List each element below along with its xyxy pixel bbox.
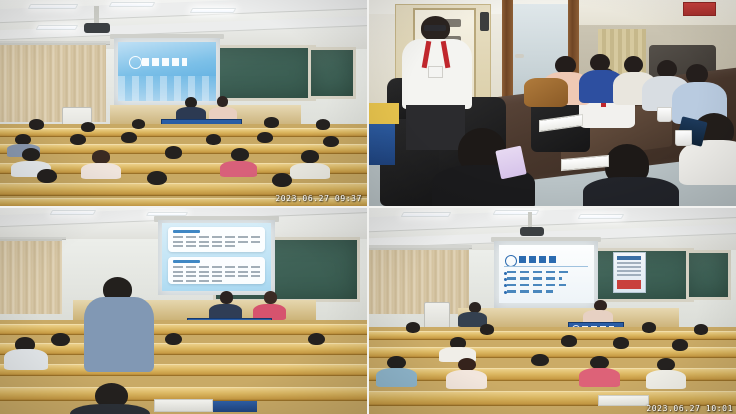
slide-agenda bbox=[499, 245, 594, 304]
audience-head bbox=[81, 122, 96, 132]
slide-title-text bbox=[519, 256, 559, 263]
slide-bullet-line bbox=[507, 284, 566, 287]
notice-title-text bbox=[617, 256, 641, 260]
audience-head bbox=[165, 333, 182, 345]
audience-head bbox=[316, 119, 331, 129]
window-curtain bbox=[0, 239, 62, 314]
audience-body bbox=[446, 370, 487, 389]
desk-handout bbox=[598, 395, 650, 405]
photo-timestamp: 2023.06.27 10:01 bbox=[646, 404, 733, 413]
table-flower-arrangement bbox=[524, 78, 568, 107]
slide-card bbox=[168, 257, 265, 284]
slide-card bbox=[168, 227, 265, 251]
audience-head bbox=[308, 333, 325, 345]
audience-body bbox=[376, 368, 417, 387]
presenter-head bbox=[217, 96, 229, 107]
photo-top-left: 2023.06.27 09:37 bbox=[0, 0, 367, 206]
audience-head bbox=[387, 356, 405, 370]
photo-bottom-left bbox=[0, 208, 367, 414]
slide-two-cards bbox=[162, 223, 270, 290]
fluorescent-light bbox=[401, 212, 452, 217]
projection-screen bbox=[158, 220, 275, 295]
speaker-trousers bbox=[406, 105, 465, 150]
slide-card-heading bbox=[173, 230, 200, 233]
audience-head bbox=[406, 322, 420, 332]
slide-university-cover bbox=[118, 42, 216, 102]
projection-screen bbox=[494, 241, 597, 308]
slide-card-line bbox=[173, 266, 261, 268]
audience-body bbox=[646, 370, 687, 389]
audience-head bbox=[272, 173, 292, 187]
desk-row bbox=[0, 364, 367, 376]
audience-body bbox=[4, 349, 48, 370]
photo-timestamp: 2023.06.27 09:37 bbox=[275, 194, 362, 203]
attendee-head bbox=[590, 54, 609, 72]
chalkboard-side-panel bbox=[308, 47, 356, 99]
audience-head bbox=[561, 335, 577, 347]
slide-card-heading bbox=[173, 260, 200, 263]
audience-head bbox=[613, 337, 629, 349]
audience-head bbox=[37, 169, 57, 183]
audience-head bbox=[51, 333, 69, 347]
slide-title-text bbox=[142, 58, 187, 66]
audience-head bbox=[323, 136, 339, 147]
speaker-id-badge bbox=[428, 66, 443, 78]
fluorescent-light bbox=[35, 25, 78, 30]
audience-body bbox=[220, 161, 257, 177]
foreground-attendee-body bbox=[679, 140, 736, 185]
presenter-head bbox=[264, 291, 277, 303]
standing-person-shirt bbox=[84, 297, 154, 372]
slide-logo-icon bbox=[129, 56, 142, 69]
desk-blue-folder bbox=[213, 401, 257, 411]
paper-cup bbox=[657, 107, 672, 121]
presenter-head bbox=[220, 291, 233, 303]
audience-head bbox=[264, 117, 279, 127]
projection-screen bbox=[114, 38, 220, 106]
audience-head bbox=[301, 150, 319, 163]
door-handle[interactable] bbox=[515, 54, 524, 58]
audience-head bbox=[590, 356, 608, 370]
fluorescent-light bbox=[190, 8, 237, 13]
yellow-wall-panel bbox=[369, 103, 399, 124]
red-wall-sign bbox=[683, 2, 716, 16]
side-banner bbox=[369, 119, 395, 164]
photo-collage: 2023.06.27 09:37 bbox=[0, 0, 736, 414]
wall-switch-panel[interactable] bbox=[480, 12, 489, 31]
slide-card-line bbox=[173, 241, 261, 243]
slide-skyline-graphic bbox=[118, 76, 216, 101]
paper-cup bbox=[675, 130, 692, 146]
chalkboard-side-panel bbox=[686, 250, 730, 300]
photo-top-right bbox=[369, 0, 736, 206]
speaker-glasses-icon bbox=[424, 25, 446, 31]
attendee-head bbox=[624, 56, 643, 74]
audience-head bbox=[92, 150, 110, 163]
projector bbox=[84, 23, 110, 33]
desk-row bbox=[0, 128, 367, 137]
desk-handout bbox=[154, 399, 213, 411]
audience-head bbox=[458, 358, 476, 372]
audience-body bbox=[81, 163, 121, 179]
audience-head bbox=[672, 339, 688, 351]
audience-head bbox=[694, 324, 708, 334]
fluorescent-light bbox=[493, 210, 540, 215]
photo-bottom-right: 2023.06.27 10:01 bbox=[369, 208, 736, 414]
slide-card-line bbox=[173, 280, 224, 282]
audience-head bbox=[29, 119, 44, 129]
slide-card-line bbox=[173, 236, 261, 238]
audience-head bbox=[257, 132, 273, 143]
audience-head bbox=[147, 171, 167, 185]
slide-card-line bbox=[173, 271, 261, 273]
slide-bullet-line bbox=[507, 277, 562, 280]
notice-line bbox=[617, 262, 641, 264]
projector-mount bbox=[94, 6, 99, 25]
slide-bullet-line bbox=[507, 271, 570, 274]
notice-line bbox=[617, 274, 641, 276]
slide-bullet-line bbox=[507, 290, 553, 293]
notice-poster bbox=[613, 252, 646, 294]
fluorescent-light bbox=[28, 4, 79, 9]
fluorescent-light bbox=[50, 210, 96, 215]
slide-card-line bbox=[173, 275, 261, 277]
window-curtain bbox=[369, 248, 469, 315]
projector bbox=[520, 227, 544, 236]
audience-head bbox=[231, 148, 249, 161]
notice-line bbox=[617, 270, 641, 272]
notice-accent-block bbox=[617, 280, 641, 289]
foreground-attendee-body bbox=[583, 177, 679, 206]
audience-body bbox=[290, 163, 330, 179]
audience-head bbox=[165, 146, 182, 158]
fluorescent-light bbox=[578, 214, 625, 219]
audience-head bbox=[121, 132, 136, 143]
audience-head bbox=[132, 119, 145, 128]
audience-head bbox=[480, 324, 494, 334]
fluorescent-light bbox=[109, 2, 156, 7]
notice-line bbox=[617, 266, 641, 268]
audience-head bbox=[642, 322, 656, 332]
slide-divider bbox=[504, 266, 588, 268]
audience-body bbox=[579, 368, 620, 387]
audience-head bbox=[206, 134, 221, 145]
audience-head bbox=[531, 354, 549, 367]
slide-card-line bbox=[173, 245, 235, 247]
audience-head bbox=[657, 358, 675, 372]
